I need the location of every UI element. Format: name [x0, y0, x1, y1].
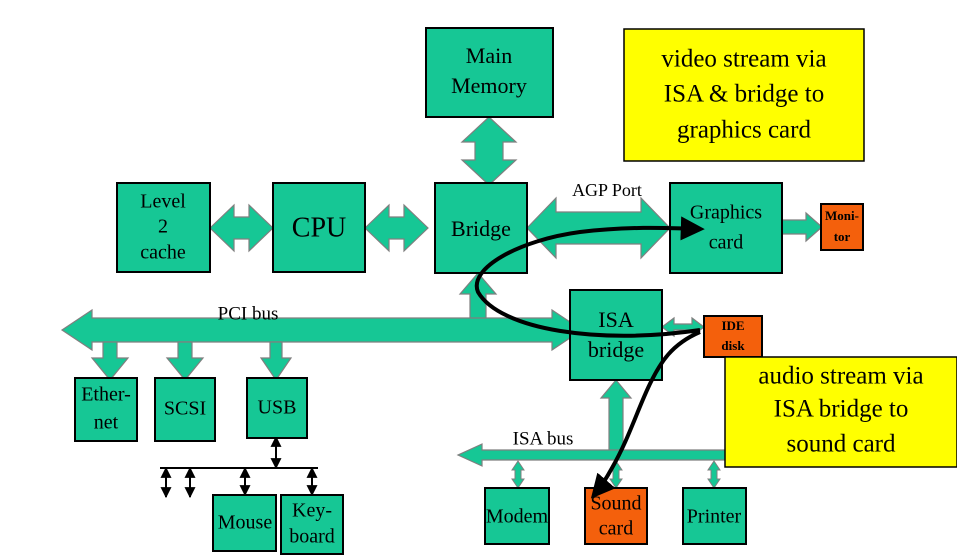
sound-card-label-2: card — [599, 518, 633, 540]
block-level2-cache[interactable]: Level 2 cache — [117, 183, 210, 272]
usb-label: USB — [258, 397, 297, 419]
arrow-pci-scsi — [167, 342, 203, 380]
printer-label: Printer — [687, 506, 742, 528]
level2-cache-label-3: cache — [140, 242, 186, 264]
agp-port-label: AGP Port — [572, 180, 642, 200]
block-ethernet[interactable]: Ether- net — [75, 378, 137, 441]
architecture-diagram: Main Memory Level 2 cache CPU Bridge Gra… — [0, 0, 957, 556]
audio-note-line-3: sound card — [787, 431, 896, 458]
video-note-line-1: video stream via — [661, 46, 826, 73]
arrow-pci-usb — [261, 342, 291, 380]
main-memory-label-2: Memory — [451, 73, 527, 98]
cpu-label: CPU — [292, 212, 346, 243]
monitor-label-2: tor — [834, 229, 851, 244]
ethernet-label-1: Ether- — [81, 384, 131, 406]
block-usb[interactable]: USB — [247, 378, 307, 438]
audio-note-line-2: ISA bridge to — [774, 396, 909, 423]
usb-peripheral-bus — [160, 437, 318, 497]
ide-disk-label-2: disk — [721, 338, 745, 353]
main-memory-label-1: Main — [466, 43, 512, 68]
keyboard-label-2: board — [289, 526, 335, 548]
ethernet-label-2: net — [94, 412, 119, 434]
modem-label: Modem — [486, 506, 549, 528]
bridge-label: Bridge — [451, 216, 511, 241]
graphics-card-label-1: Graphics — [690, 202, 762, 224]
scsi-label: SCSI — [164, 398, 206, 420]
block-monitor[interactable]: Moni- tor — [821, 204, 863, 250]
arrow-cpu-bridge — [365, 205, 428, 251]
mouse-label: Mouse — [218, 512, 273, 534]
isa-bridge-label-2: bridge — [588, 337, 644, 362]
note-video-stream: video stream via ISA & bridge to graphic… — [624, 29, 864, 161]
arrow-memory-bridge — [462, 117, 516, 185]
block-printer[interactable]: Printer — [683, 488, 746, 544]
block-ide-disk[interactable]: IDE disk — [704, 316, 762, 357]
note-audio-stream: audio stream via ISA bridge to sound car… — [725, 357, 957, 467]
monitor-label-1: Moni- — [825, 208, 859, 223]
diagram-canvas: Main Memory Level 2 cache CPU Bridge Gra… — [0, 0, 957, 556]
arrow-graphics-monitor — [782, 213, 822, 241]
pci-bus-label: PCI bus — [218, 303, 279, 324]
level2-cache-label-2: 2 — [158, 216, 168, 238]
isa-bridge-label-1: ISA — [598, 307, 634, 332]
isa-bus-label: ISA bus — [513, 428, 574, 449]
arrow-pci-ethernet — [92, 342, 128, 380]
ide-disk-label-1: IDE — [721, 318, 744, 333]
video-note-line-3: graphics card — [677, 117, 811, 144]
block-main-memory[interactable]: Main Memory — [426, 28, 553, 117]
video-note-line-2: ISA & bridge to — [664, 81, 824, 108]
arrow-isabus-printer — [708, 461, 720, 488]
arrow-cache-cpu — [210, 205, 273, 251]
arrow-isabus-modem — [512, 461, 524, 488]
audio-note-line-1: audio stream via — [758, 363, 923, 390]
block-scsi[interactable]: SCSI — [155, 378, 215, 441]
block-cpu[interactable]: CPU — [273, 183, 365, 272]
keyboard-label-1: Key- — [292, 500, 332, 522]
graphics-card-label-2: card — [709, 232, 743, 254]
level2-cache-label-1: Level — [140, 191, 186, 213]
sound-card-label-1: Sound — [590, 493, 641, 515]
block-bridge[interactable]: Bridge — [435, 183, 527, 273]
arrow-isabridge-isabus — [601, 380, 631, 455]
block-sound-card[interactable]: Sound card — [585, 488, 647, 544]
block-keyboard[interactable]: Key- board — [281, 495, 343, 554]
block-modem[interactable]: Modem — [485, 488, 549, 544]
block-mouse[interactable]: Mouse — [213, 495, 276, 551]
